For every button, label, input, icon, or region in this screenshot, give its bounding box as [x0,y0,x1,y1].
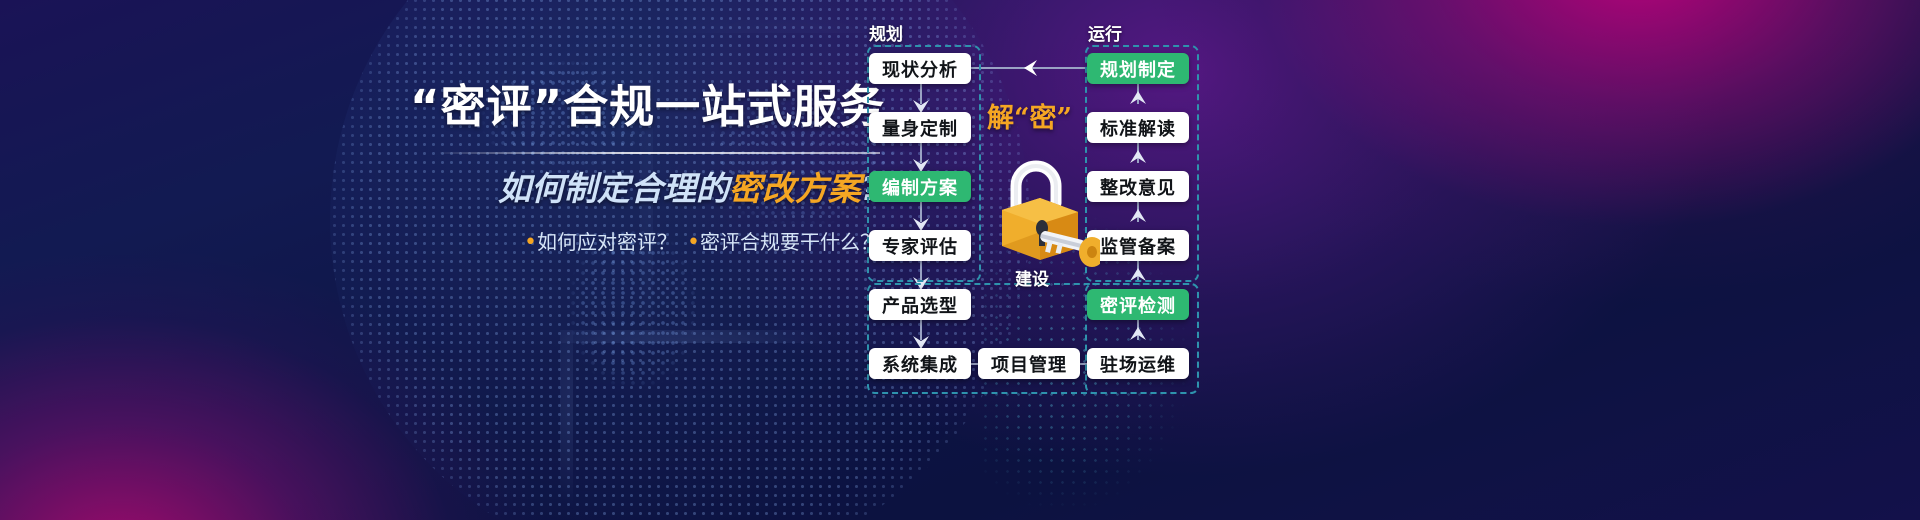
flow-node-label: 现状分析 [882,56,958,82]
flow-node-expert-review[interactable]: 专家评估 [869,230,971,261]
flow-node-situation-analysis[interactable]: 现状分析 [869,53,971,84]
flow-node-label: 专家评估 [882,233,958,259]
bullet-item-1: 如何应对密评？ [537,230,677,254]
flow-node-label: 驻场运维 [1100,351,1176,377]
flow-node-label: 标准解读 [1100,115,1176,141]
padlock-key-icon [980,148,1100,268]
group-label-planning: 规划 [869,20,903,45]
bullet-list: •如何应对密评？•密评合规要干什么？ [410,226,880,255]
flow-node-plan-drafting[interactable]: 编制方案 [869,171,971,202]
group-label-construction: 建设 [1015,265,1049,290]
flow-node-standard-interpretation[interactable]: 标准解读 [1087,112,1189,143]
flow-node-system-integration[interactable]: 系统集成 [869,348,971,379]
flow-node-plan-formulation[interactable]: 规划制定 [1087,53,1189,84]
flow-node-project-management[interactable]: 项目管理 [978,348,1080,379]
flow-node-label: 项目管理 [991,351,1067,377]
flow-node-label: 系统集成 [882,351,958,377]
flow-node-label: 量身定制 [882,115,958,141]
subtitle-highlight: 密改方案 [729,169,861,208]
flow-node-label: 密评检测 [1100,292,1176,318]
bullet-item-2: 密评合规要干什么？ [700,230,880,254]
subtitle-normal: 如何制定合理的 [498,169,729,208]
promo-banner: “密评”合规一站式服务 如何制定合理的密改方案? •如何应对密评？•密评合规要干… [0,0,1920,520]
pixel-grid-decoration-lower [560,330,860,520]
flow-node-label: 编制方案 [882,174,958,200]
padlock-key-svg [980,148,1100,268]
flow-node-regulatory-filing[interactable]: 监管备案 [1087,230,1189,261]
flow-node-onsite-ops[interactable]: 驻场运维 [1087,348,1189,379]
flow-node-tailored-design[interactable]: 量身定制 [869,112,971,143]
headline-block: “密评”合规一站式服务 如何制定合理的密改方案? •如何应对密评？•密评合规要干… [410,82,880,255]
flow-node-label: 规划制定 [1100,56,1176,82]
title-divider [440,152,880,154]
flow-node-label: 整改意见 [1100,174,1176,200]
flow-node-crypto-assessment[interactable]: 密评检测 [1087,289,1189,320]
bullet-dot-icon: • [524,230,537,255]
decrypt-keyword: 解“密” [987,96,1072,135]
process-flowchart: 规划 运行 建设 现状分析 量身定制 编制方案 专家评估 规划制定 标准解读 整… [855,0,1255,520]
flow-node-rectification-advice[interactable]: 整改意见 [1087,171,1189,202]
group-label-operation: 运行 [1088,20,1122,45]
flow-node-label: 产品选型 [882,292,958,318]
subtitle: 如何制定合理的密改方案? [410,170,880,208]
bullet-dot-icon: • [687,230,700,255]
page-title: “密评”合规一站式服务 [410,82,880,132]
flow-node-label: 监管备案 [1100,233,1176,259]
flow-node-product-selection[interactable]: 产品选型 [869,289,971,320]
